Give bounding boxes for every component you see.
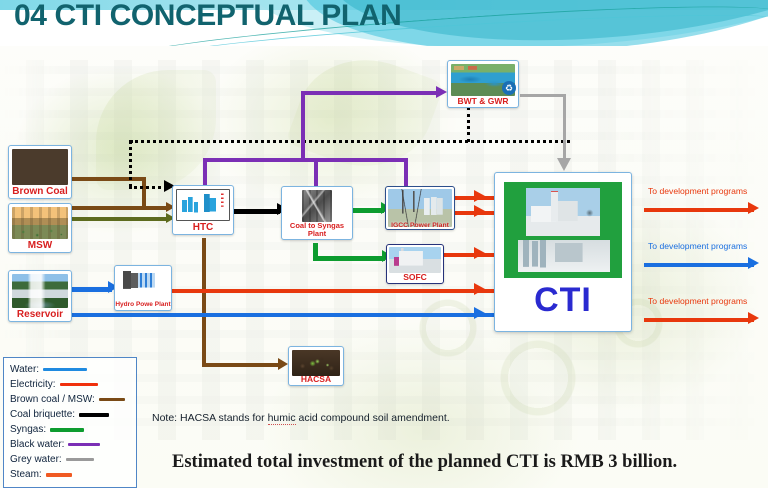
arrowhead-htc-hacsa xyxy=(278,358,288,370)
node-brown-coal[interactable]: Brown Coal xyxy=(8,145,72,199)
edge-cti-out-3 xyxy=(644,318,754,322)
edge-greywater-down xyxy=(563,94,566,160)
slide-header: 04 CTI CONCEPTUAL PLAN xyxy=(0,0,768,46)
node-hacsa[interactable]: HACSA xyxy=(288,346,344,386)
edge-greywater-from-bwt xyxy=(520,94,566,97)
legend-label-steam: Steam: xyxy=(10,469,42,480)
edge-browncoal-to-htc-top xyxy=(110,177,146,181)
arrowhead-greywater-cti xyxy=(557,158,571,171)
node-msw-label: MSW xyxy=(9,241,71,252)
node-hacsa-label: HACSA xyxy=(289,375,343,384)
legend-label-black-water: Black water: xyxy=(10,439,64,450)
edge-hydro-to-cti xyxy=(172,289,494,293)
investment-statement: Estimated total investment of the planne… xyxy=(172,452,677,473)
recycle-icon: ♻ xyxy=(502,81,516,95)
arrowhead-cti-out-2 xyxy=(748,257,759,269)
edge-htc-to-hacsa-right xyxy=(202,363,280,367)
arrowhead-hydro-cti xyxy=(474,283,485,295)
node-sofc-label: SOFC xyxy=(387,273,443,282)
edge-cti-out-2 xyxy=(644,263,754,267)
node-brown-coal-label: Brown Coal xyxy=(9,187,71,198)
edge-browncoal-to-htc xyxy=(72,206,146,210)
arrowhead-reservoir-cti xyxy=(474,307,485,319)
edge-blackwater-manifold xyxy=(203,158,407,162)
edge-briquette-into-htc xyxy=(129,186,167,189)
legend-swatch-brown-coal-msw xyxy=(99,398,125,401)
legend-label-syngas: Syngas: xyxy=(10,424,46,435)
legend-swatch-water xyxy=(43,368,87,371)
arrowhead-cti-out-1 xyxy=(748,202,759,214)
edge-sofc-to-cti xyxy=(444,253,494,257)
hydro-power-plant-icon xyxy=(118,269,168,297)
edge-reservoir-to-cti xyxy=(72,313,494,317)
edge-reservoir-to-hydro xyxy=(72,287,112,292)
industrial-complex-photo xyxy=(504,182,622,278)
legend-label-electricity: Electricity: xyxy=(10,379,56,390)
sofc-plant-photo xyxy=(389,247,441,273)
legend-swatch-grey-water xyxy=(66,458,94,461)
output-label-3: To development programs xyxy=(648,296,747,306)
node-igcc-label: IGCC Power Plant xyxy=(386,222,454,229)
legend-swatch-syngas xyxy=(50,428,84,432)
edge-briquette-from-bwt xyxy=(467,107,470,142)
arrowhead-igcc-cti-2 xyxy=(474,205,485,217)
note-text: Note: HACSA stands for humic acid compou… xyxy=(152,412,450,424)
note-suffix: acid compound soil amendment. xyxy=(296,412,450,424)
node-cti[interactable]: CTI xyxy=(494,172,632,332)
legend-label-coal-briquette: Coal briquette: xyxy=(10,409,75,420)
edge-blackwater-to-bwt xyxy=(301,91,439,95)
legend-swatch-steam xyxy=(46,473,72,477)
legend-item-steam: Steam: xyxy=(10,467,136,482)
syngas-plant-photo xyxy=(302,190,332,222)
edge-blackwater-htc-riser xyxy=(203,158,207,188)
node-htc[interactable]: HTC xyxy=(172,185,234,235)
legend-swatch-electricity xyxy=(60,383,98,386)
edge-briquette-down xyxy=(129,140,132,188)
edge-cti-out-1 xyxy=(644,208,754,212)
edge-blackwater-syngas-riser xyxy=(314,158,318,188)
node-msw[interactable]: MSW xyxy=(8,203,72,253)
edge-msw-to-htc xyxy=(72,217,168,221)
conceptual-plan-slide: 04 CTI CONCEPTUAL PLAN xyxy=(0,0,768,488)
edge-syngas-sofc-right xyxy=(313,256,385,261)
edge-blackwater-igcc-riser xyxy=(404,158,408,188)
cti-photo-bottom xyxy=(518,240,610,272)
edge-briquette-horizontal xyxy=(130,140,570,143)
output-label-1: To development programs xyxy=(648,186,747,196)
node-htc-label: HTC xyxy=(173,223,233,234)
legend-label-brown-coal-msw: Brown coal / MSW: xyxy=(10,394,95,405)
legend-item-electricity: Electricity: xyxy=(10,377,136,392)
legend-swatch-black-water xyxy=(68,443,100,446)
legend-item-syngas: Syngas: xyxy=(10,422,136,437)
edge-syngas-to-igcc xyxy=(352,208,384,213)
seedling-soil-photo xyxy=(292,350,340,376)
legend-panel: Water: Electricity: Brown coal / MSW: Co… xyxy=(3,357,137,488)
htc-plant-icon xyxy=(176,189,230,221)
legend-label-water: Water: xyxy=(10,364,39,375)
node-bwt-label: BWT & GWR xyxy=(448,97,518,106)
note-underlined: humic xyxy=(268,412,296,425)
reservoir-dam-photo xyxy=(12,274,68,308)
note-prefix: Note: HACSA stands for xyxy=(152,412,268,424)
municipal-solid-waste-photo xyxy=(12,207,68,239)
output-label-2: To development programs xyxy=(648,241,747,251)
coal-pile-photo xyxy=(12,149,68,185)
page-title: 04 CTI CONCEPTUAL PLAN xyxy=(14,0,401,33)
legend-swatch-coal-briquette xyxy=(79,413,109,417)
node-reservoir-label: Reservoir xyxy=(9,310,71,321)
node-reservoir[interactable]: Reservoir xyxy=(8,270,72,322)
edge-htc-to-syngas xyxy=(234,209,280,214)
node-coal-to-syngas-plant[interactable]: Coal to Syngas Plant xyxy=(281,186,353,240)
arrowhead-blackwater-bwt xyxy=(436,86,447,98)
legend-item-grey-water: Grey water: xyxy=(10,452,136,467)
node-hydro-power-plant[interactable]: Hydro Powe Plant xyxy=(114,265,172,311)
legend-label-grey-water: Grey water: xyxy=(10,454,62,465)
arrowhead-cti-out-3 xyxy=(748,312,759,324)
node-syngas-label: Coal to Syngas Plant xyxy=(282,222,352,238)
edge-browncoal-htc-in xyxy=(146,206,168,210)
edge-blackwater-main-riser xyxy=(301,91,305,161)
edge-browncoal-stub xyxy=(72,177,112,181)
node-hydro-label: Hydro Powe Plant xyxy=(115,302,171,309)
node-cti-label: CTI xyxy=(495,281,631,320)
legend-item-coal-briquette: Coal briquette: xyxy=(10,407,136,422)
node-sofc[interactable]: SOFC xyxy=(386,244,444,284)
legend-item-brown-coal-msw: Brown coal / MSW: xyxy=(10,392,136,407)
legend-item-water: Water: xyxy=(10,362,136,377)
node-bwt-gwr[interactable]: ♻ BWT & GWR xyxy=(447,60,519,108)
edge-htc-to-hacsa-down xyxy=(202,238,206,366)
arrowhead-sofc-cti xyxy=(474,247,485,259)
node-igcc-power-plant[interactable]: IGCC Power Plant xyxy=(385,186,455,230)
legend-item-black-water: Black water: xyxy=(10,437,136,452)
cti-photo-top xyxy=(526,188,600,236)
arrowhead-igcc-cti-1 xyxy=(474,190,485,202)
